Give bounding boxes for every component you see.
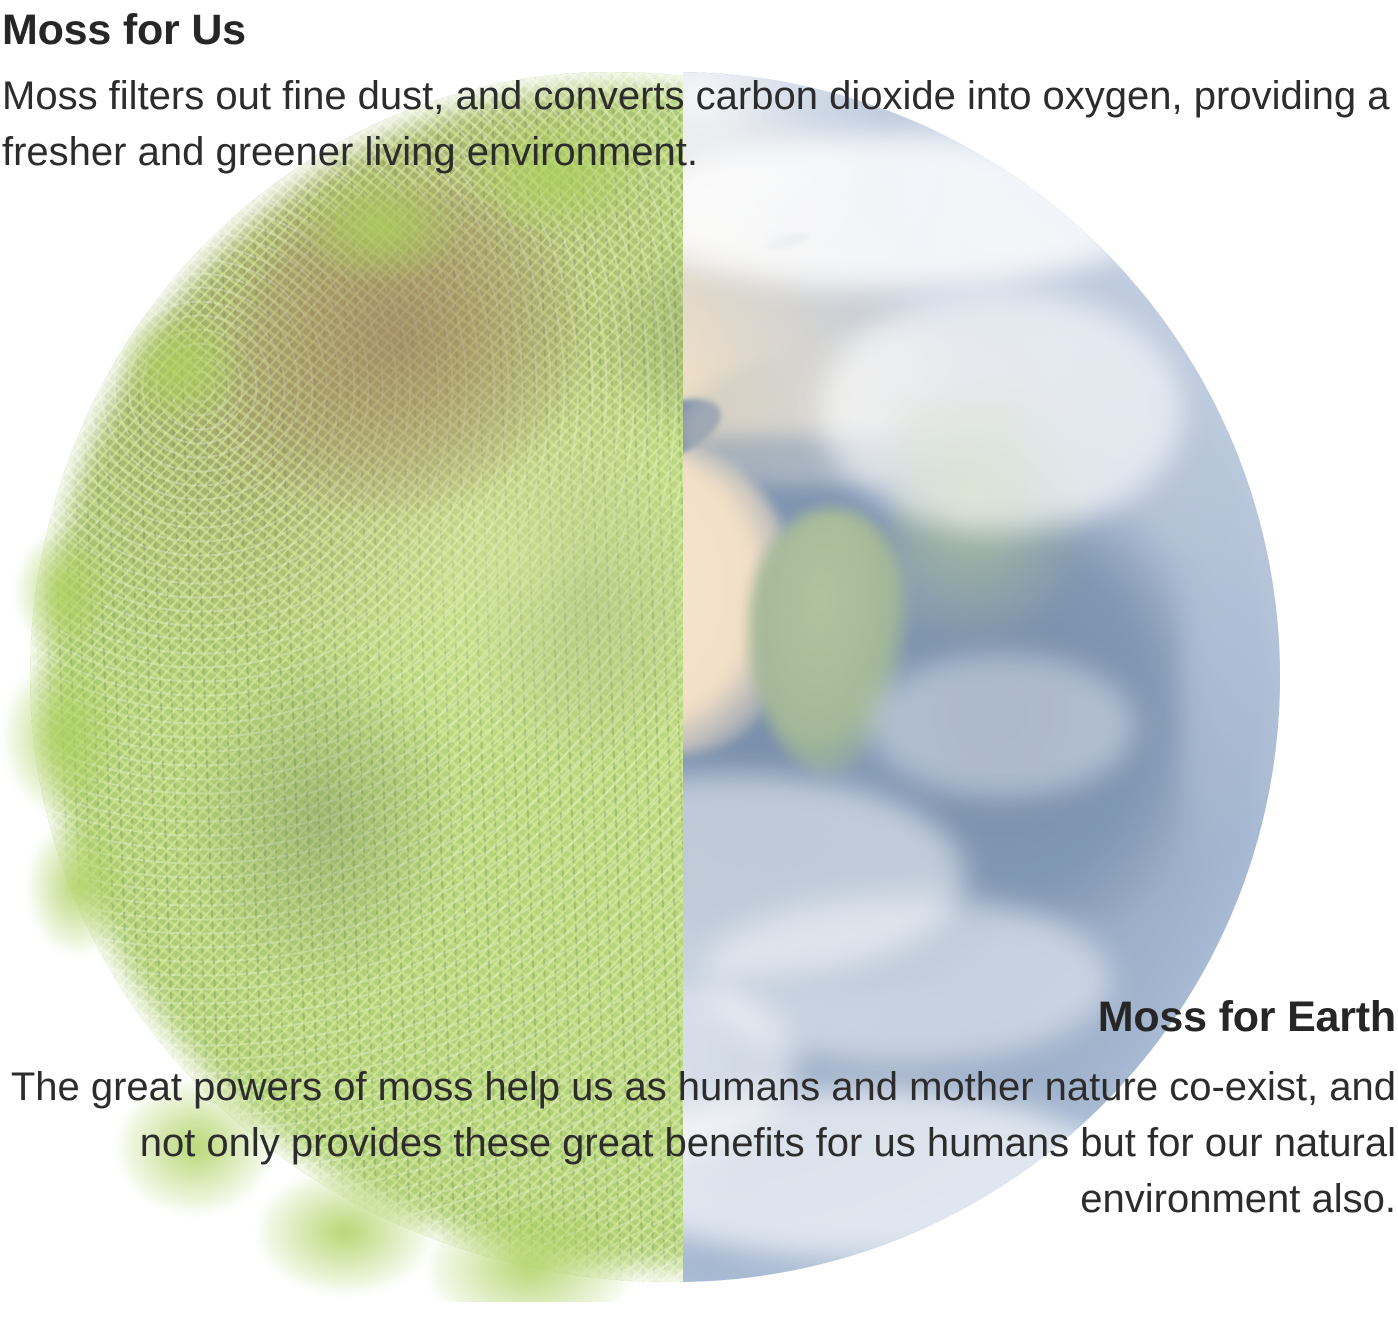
- moss-tuft: [6, 662, 116, 812]
- moss-tuft: [18, 532, 108, 652]
- moss-for-earth-paragraph: The great powers of moss help us as huma…: [2, 1039, 1396, 1227]
- top-text-block: Moss for Us Moss filters out fine dust, …: [2, 0, 1396, 180]
- moss-tuft: [120, 312, 240, 422]
- moss-tuft: [30, 822, 125, 952]
- moss-for-earth-heading: Moss for Earth: [2, 996, 1396, 1039]
- poster-canvas: Moss for Us Moss filters out fine dust, …: [0, 0, 1398, 1338]
- bottom-text-block: Moss for Earth The great powers of moss …: [2, 996, 1396, 1227]
- moss-for-us-paragraph: Moss filters out fine dust, and converts…: [2, 52, 1394, 180]
- moss-for-us-heading: Moss for Us: [2, 0, 1396, 52]
- moss-tuft: [300, 172, 460, 282]
